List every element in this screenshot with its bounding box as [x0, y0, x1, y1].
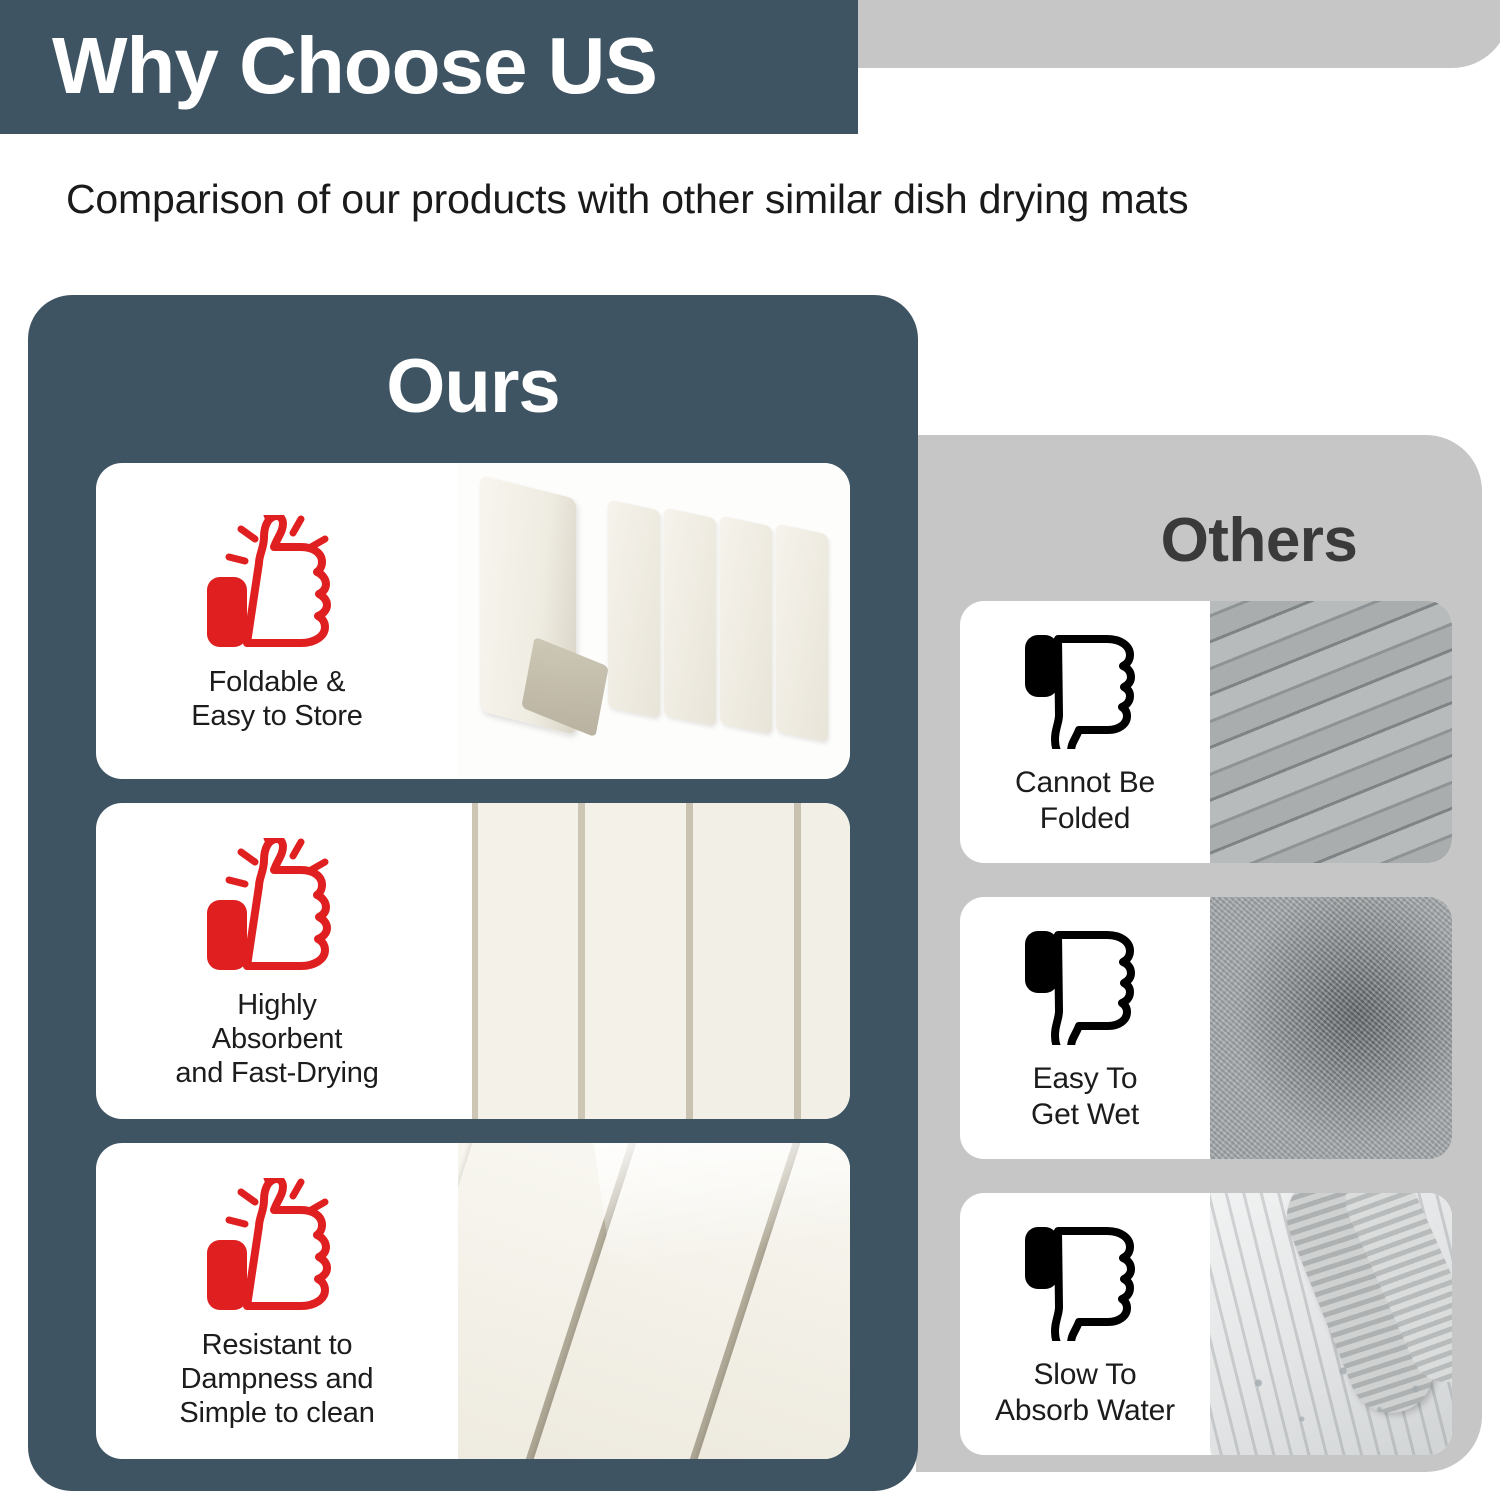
- gray-carpet-texture-photo: [1210, 897, 1452, 1159]
- others-feature-card: Easy To Get Wet: [960, 897, 1452, 1159]
- ours-panel: Ours Foldable & Easy to Store: [28, 295, 918, 1491]
- others-panel-title: Others: [916, 505, 1482, 576]
- others-card-caption: Easy To Get Wet: [1031, 1061, 1139, 1133]
- others-feature-card: Cannot Be Folded: [960, 601, 1452, 863]
- others-card-caption: Cannot Be Folded: [1015, 765, 1155, 837]
- thumbs-down-icon: [1023, 631, 1147, 749]
- ours-feature-card: Resistant to Dampness and Simple to clea…: [96, 1143, 850, 1459]
- ours-card-caption: Foldable & Easy to Store: [191, 665, 363, 733]
- title-plate: Why Choose US: [0, 0, 858, 134]
- thumbs-up-icon: [201, 515, 353, 651]
- gray-ribbed-mat-photo: [1210, 601, 1452, 863]
- folded-cream-mat-photo: [458, 463, 850, 779]
- thumbs-down-icon: [1023, 927, 1147, 1045]
- ours-card-caption: Highly Absorbent and Fast-Drying: [175, 988, 378, 1091]
- thumbs-down-icon: [1023, 1223, 1147, 1341]
- others-panel: Others Cannot Be Folded Easy To: [916, 435, 1482, 1472]
- thumbs-up-icon: [201, 838, 353, 974]
- ours-card-label-column: Highly Absorbent and Fast-Drying: [96, 803, 458, 1119]
- page-subtitle: Comparison of our products with other si…: [66, 176, 1188, 223]
- ours-card-label-column: Resistant to Dampness and Simple to clea…: [96, 1143, 458, 1459]
- others-card-label-column: Cannot Be Folded: [960, 601, 1210, 863]
- ours-feature-card: Foldable & Easy to Store: [96, 463, 850, 779]
- ours-card-label-column: Foldable & Easy to Store: [96, 463, 458, 779]
- thumbs-up-icon: [201, 1178, 353, 1314]
- ours-feature-card: Highly Absorbent and Fast-Drying: [96, 803, 850, 1119]
- cream-mat-diagonal-closeup-photo: [458, 1143, 850, 1459]
- cream-mat-slats-closeup-photo: [458, 803, 850, 1119]
- others-card-label-column: Slow To Absorb Water: [960, 1193, 1210, 1455]
- ours-panel-title: Ours: [28, 343, 918, 430]
- mat-with-corn-photo: [1210, 1193, 1452, 1455]
- others-card-caption: Slow To Absorb Water: [995, 1357, 1175, 1429]
- others-card-label-column: Easy To Get Wet: [960, 897, 1210, 1159]
- ours-card-caption: Resistant to Dampness and Simple to clea…: [179, 1328, 374, 1431]
- page-title: Why Choose US: [52, 14, 657, 118]
- others-feature-card: Slow To Absorb Water: [960, 1193, 1452, 1455]
